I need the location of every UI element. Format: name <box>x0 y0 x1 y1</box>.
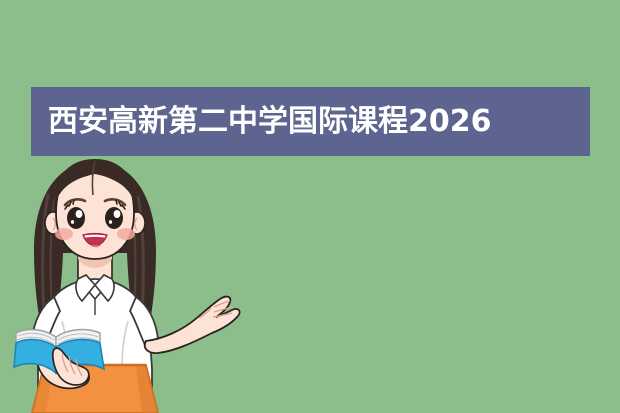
left-blush <box>55 228 73 240</box>
left-eye-highlight-2 <box>71 220 74 224</box>
book-cover-left <box>14 340 56 373</box>
extended-arm-group <box>145 297 240 354</box>
student-illustration-svg <box>0 155 300 413</box>
right-eye-highlight <box>114 210 121 218</box>
right-arm <box>145 297 240 354</box>
poster-canvas: 西安高新第二中学国际课程2026 <box>0 0 620 413</box>
page-title: 西安高新第二中学国际课程2026 <box>31 107 492 137</box>
right-blush <box>117 228 135 240</box>
left-eye <box>67 207 85 229</box>
title-banner: 西安高新第二中学国际课程2026 <box>31 87 590 156</box>
right-eye <box>105 207 123 229</box>
left-eye-highlight <box>76 210 83 218</box>
student-illustration <box>0 155 300 413</box>
right-eye-highlight-2 <box>109 220 112 224</box>
